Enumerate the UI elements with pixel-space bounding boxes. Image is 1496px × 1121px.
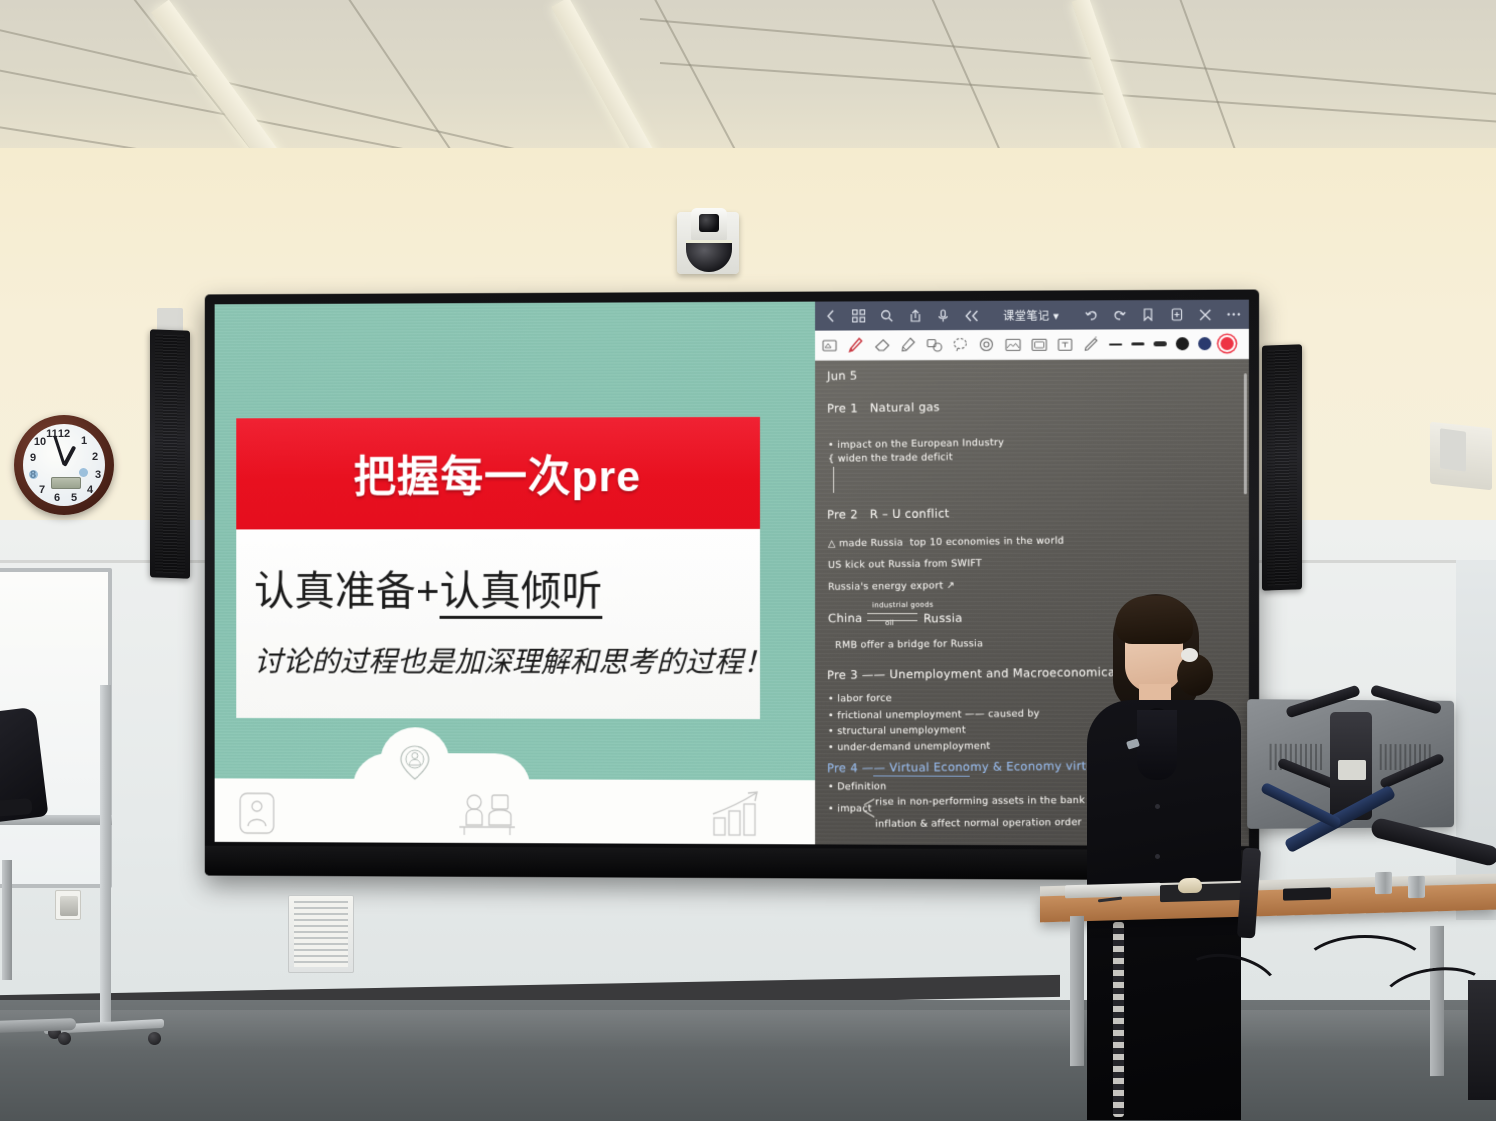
slide-heading-underlined: 认真倾听 (440, 568, 603, 619)
note-line: RMB offer a bridge for Russia (835, 638, 983, 651)
note-annotation-top: industrial goods (872, 601, 933, 610)
presenter (1085, 592, 1245, 1121)
undo-icon[interactable] (1084, 307, 1099, 322)
note-line: • frictional unemployment —— caused by (828, 708, 1040, 721)
right-speaker (1262, 344, 1302, 590)
desk-leg (1070, 916, 1084, 1066)
note-arrow-right (867, 613, 917, 614)
caster-wheel (58, 1032, 71, 1045)
note-line: Russia's energy export ↗ (828, 580, 955, 593)
note-heading-pre4: Pre 4 —— Virtual Economy & Economy virtu… (827, 758, 1115, 775)
note-line-china: China (828, 611, 863, 625)
color-swatch-navy[interactable] (1198, 337, 1211, 350)
two-people-at-desk-icon (456, 791, 517, 837)
note-subline-1: rise in non-performing assets in the ban… (875, 795, 1085, 808)
stroke-width-thin[interactable] (1109, 343, 1122, 345)
notes-title[interactable]: 课堂笔记 ▾ (992, 307, 1071, 323)
camera-lens-icon (699, 214, 719, 232)
eraser-icon[interactable] (873, 336, 890, 353)
laser-pointer-icon[interactable] (1083, 336, 1100, 353)
presenter-hair-front (1115, 596, 1193, 644)
text-box-icon[interactable] (1056, 336, 1073, 353)
image-icon[interactable] (1004, 336, 1021, 353)
speaker-can (1375, 872, 1392, 894)
speaker-mount-right (1440, 428, 1466, 472)
back-chevron-icon[interactable] (823, 309, 838, 324)
keyboard[interactable] (1065, 883, 1161, 899)
wall-clock: 12 1 2 3 4 5 6 7 8 9 10 11 (14, 415, 114, 515)
note-heading-pre2: Pre 2 R – U conflict (827, 506, 950, 522)
bar-chart-growth-icon (710, 790, 762, 838)
bookmark-icon[interactable] (1140, 307, 1155, 322)
left-speaker (150, 329, 190, 578)
office-chair-post (2, 860, 12, 980)
classroom-scene: 12 1 2 3 4 5 6 7 8 9 10 11 (0, 0, 1496, 1121)
presentation-slide[interactable]: 把握每一次pre 认真准备+认真倾听 讨论的过程也是加深理解和思考的过程！ (215, 302, 815, 845)
color-swatch-red[interactable] (1220, 337, 1233, 350)
apps-grid-icon[interactable] (851, 308, 866, 323)
note-line: • structural unemployment (828, 725, 966, 737)
slide-title: 把握每一次pre (236, 417, 760, 530)
lasso-icon[interactable] (952, 336, 969, 353)
phone[interactable] (1283, 887, 1331, 900)
slide-heading-prefix: 认真准备+ (254, 568, 440, 614)
notes-header: 课堂笔记 ▾ (815, 300, 1249, 331)
clock-hour-3: 3 (91, 469, 105, 481)
note-annotation-bottom: oil (885, 619, 894, 627)
shape-icon[interactable] (925, 336, 942, 353)
presenter-lapel (1137, 710, 1177, 780)
pen-icon[interactable] (847, 336, 864, 353)
share-icon[interactable] (907, 308, 922, 323)
blazer-button (1155, 804, 1160, 809)
spotlight-icon[interactable] (978, 336, 995, 353)
mousepad (1160, 883, 1245, 902)
presenter-hair-tie (1181, 648, 1198, 662)
caster-wheel (148, 1032, 161, 1045)
clock-face: 12 1 2 3 4 5 6 7 8 9 10 11 (23, 424, 105, 506)
slide-subtext: 讨论的过程也是加深理解和思考的过程！ (254, 639, 772, 681)
stroke-width-medium[interactable] (1131, 342, 1144, 346)
gallery-icon[interactable] (1030, 336, 1047, 353)
add-page-icon[interactable] (1169, 307, 1184, 322)
clock-hour-2: 2 (88, 451, 102, 463)
slide-logo-badge (380, 727, 449, 797)
speaker-grill (155, 334, 185, 573)
canvas-scrollbar[interactable] (1244, 373, 1247, 494)
location-pin-person-icon (395, 742, 435, 782)
note-line: US kick out Russia from SWIFT (828, 558, 982, 571)
chevron-down-icon[interactable]: ▾ (1053, 310, 1059, 322)
ceiling (0, 0, 1496, 150)
slide-title-banner: 把握每一次pre (236, 417, 760, 530)
slide-body-card: 认真准备+认真倾听 讨论的过程也是加深理解和思考的过程！ (236, 529, 760, 719)
slide-heading-row: 认真准备+认真倾听 (254, 557, 602, 617)
speaker-can (1408, 876, 1425, 898)
search-icon[interactable] (879, 308, 894, 323)
microphone-icon[interactable] (936, 308, 951, 323)
note-heading-pre1: Pre 1 Natural gas (827, 400, 940, 416)
speaker-grill (1267, 349, 1297, 585)
clock-date-window (51, 477, 81, 489)
close-icon[interactable] (1197, 307, 1212, 322)
note-line: • labor force (828, 693, 892, 705)
mount-label (1338, 760, 1366, 780)
note-line: • Definition (828, 781, 887, 793)
clock-hour-7: 7 (35, 484, 49, 496)
secondary-monitor (1468, 980, 1496, 1100)
outlet-face (60, 896, 78, 916)
blazer-button (1155, 854, 1160, 859)
note-stroke (833, 467, 834, 493)
clock-decor-dot (29, 470, 38, 479)
note-line: • under-demand unemployment (828, 741, 990, 754)
clock-hour-1: 1 (77, 435, 91, 447)
clock-hour-9: 9 (26, 452, 40, 464)
redo-icon[interactable] (1112, 307, 1127, 322)
wall-air-vent (288, 895, 354, 973)
note-subline-2: inflation & affect normal operation orde… (875, 817, 1082, 830)
highlighter-icon[interactable] (899, 336, 916, 353)
note-date: Jun 5 (827, 368, 858, 382)
stroke-width-thick[interactable] (1154, 341, 1167, 346)
clock-hour-5: 5 (67, 492, 81, 504)
clock-hour-11: 11 (45, 428, 59, 440)
color-swatch-black[interactable] (1176, 337, 1189, 350)
vent-slats (294, 901, 348, 967)
clock-decor-dot (79, 468, 88, 477)
select-icon[interactable] (821, 337, 838, 354)
mouse[interactable] (1178, 878, 1202, 894)
wall-outlet (55, 890, 81, 920)
notes-toolbar[interactable] (815, 329, 1249, 361)
more-options-icon[interactable] (1226, 307, 1241, 322)
lanyard-strap (1113, 922, 1124, 1117)
floor-reflection (0, 1010, 1496, 1050)
person-badge-icon (236, 790, 277, 836)
note-line: { widen the trade deficit (828, 452, 953, 465)
clock-hour-12: 12 (57, 428, 71, 440)
right-wall-panel (1456, 560, 1496, 920)
clock-hour-4: 4 (83, 484, 97, 496)
collapse-icon[interactable] (964, 308, 979, 323)
clock-hour-6: 6 (50, 492, 64, 504)
notes-title-text: 课堂笔记 (1003, 310, 1049, 322)
whiteboard-post (100, 685, 111, 1030)
note-line-russia: Russia (923, 611, 962, 626)
